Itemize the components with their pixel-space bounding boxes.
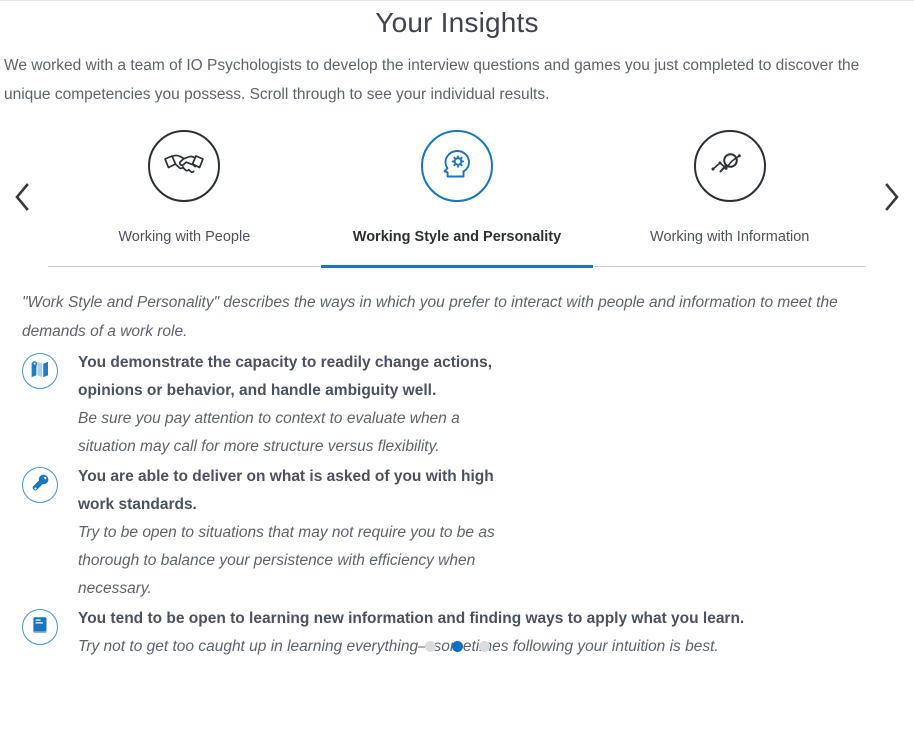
insight-icon-circle [22,609,58,645]
insight-headline: You demonstrate the capacity to readily … [78,349,508,405]
book-icon [30,615,50,640]
list-item: You demonstrate the capacity to readily … [22,349,866,461]
tab-icon-circle [148,130,220,202]
chevron-right-icon [883,182,901,212]
magnifier-chart-icon [709,149,751,184]
tab-label: Working with Information [650,228,809,246]
handshake-icon [163,149,205,184]
insights-page: Your Insights We worked with a team of I… [0,0,914,661]
tab-underline [593,265,866,268]
tab-icon-circle [421,130,493,202]
insight-icon-circle [22,467,58,503]
insight-headline: You tend to be open to learning new info… [78,605,866,633]
insight-icon-circle [22,353,58,389]
insight-tip: Be sure you pay attention to context to … [78,405,508,461]
tab-icon-circle [694,130,766,202]
carousel-pagination [0,641,914,652]
chevron-left-icon [13,182,31,212]
insight-text: You demonstrate the capacity to readily … [78,349,508,461]
tab-underline [48,265,321,268]
tab-label: Working with People [118,228,250,246]
page-title: Your Insights [0,0,914,42]
insight-tip: Try to be open to situations that may no… [78,519,508,603]
competency-carousel: Working with People [0,127,914,267]
tab-working-style-and-personality[interactable]: Working Style and Personality [321,127,594,266]
list-item: You tend to be open to learning new info… [22,605,866,661]
tab-working-with-people[interactable]: Working with People [48,127,321,266]
carousel-prev-button[interactable] [4,174,40,220]
head-gear-icon [439,146,475,187]
pagination-dot-1[interactable] [425,641,436,652]
list-item: You are able to deliver on what is asked… [22,463,866,603]
map-pin-icon [30,359,50,384]
carousel-next-button[interactable] [874,174,910,220]
carousel-tab-list: Working with People [48,127,866,267]
pagination-dot-2[interactable] [452,641,463,652]
wrench-icon [30,473,50,498]
results-panel: "Work Style and Personality" describes t… [0,288,914,661]
insight-list: You demonstrate the capacity to readily … [22,349,866,661]
tab-underline [321,265,594,268]
insight-headline: You are able to deliver on what is asked… [78,463,508,519]
insight-text: You are able to deliver on what is asked… [78,463,508,603]
competency-description: "Work Style and Personality" describes t… [22,288,866,346]
tab-working-with-information[interactable]: Working with Information [593,127,866,266]
intro-paragraph: We worked with a team of IO Psychologist… [0,51,914,109]
pagination-dot-3[interactable] [479,641,490,652]
insight-text: You tend to be open to learning new info… [78,605,866,661]
tab-label: Working Style and Personality [353,228,561,246]
